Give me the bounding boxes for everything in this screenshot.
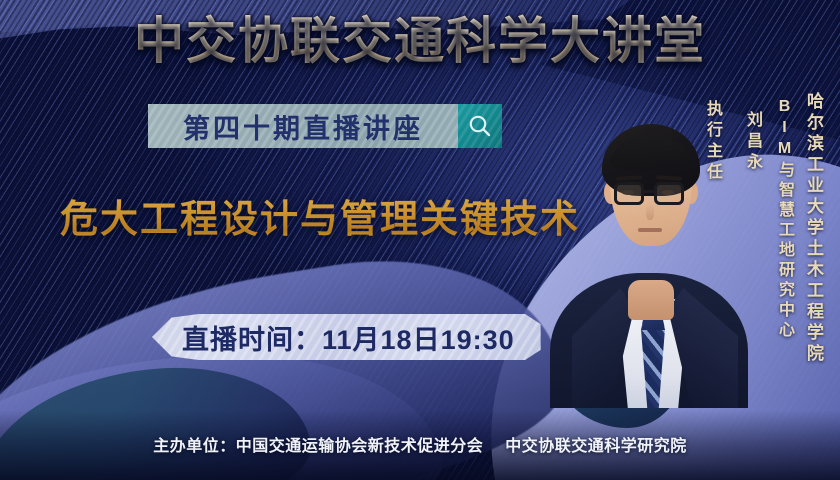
portrait-glasses-left-lens [614, 182, 644, 205]
lecture-title: 危大工程设计与管理关键技术 [60, 188, 580, 243]
portrait-glasses-bridge [644, 190, 654, 193]
speaker-affiliation-center: BIM与智慧工地研究中心 [772, 98, 796, 341]
live-time-text: 直播时间：11月18日19:30 [182, 318, 515, 357]
organizers-prefix: 主办单位： [153, 438, 236, 455]
episode-banner: 第四十期直播讲座 [148, 104, 502, 148]
search-icon [467, 113, 493, 139]
speaker-identity: 刘昌永 执行主任 [700, 100, 764, 184]
portrait-neck [628, 280, 674, 320]
portrait-nose [646, 204, 654, 220]
episode-label-bar: 第四十期直播讲座 [148, 104, 458, 148]
organizer-two: 中交协联交通科学研究院 [505, 438, 687, 455]
promo-poster: 中交协联交通科学大讲堂 第四十期直播讲座 危大工程设计与管理关键技术 直播时间：… [0, 0, 840, 480]
speaker-title: 执行主任 [700, 100, 724, 184]
search-button[interactable] [458, 104, 502, 148]
page-title: 中交协联交通科学大讲堂 [0, 12, 840, 71]
live-time-plaque: 直播时间：11月18日19:30 [152, 314, 541, 360]
portrait-mouth [638, 228, 662, 232]
portrait-glasses-right-lens [654, 182, 684, 205]
speaker-name: 刘昌永 [740, 111, 764, 174]
speaker-affiliation-school: 哈尔滨工业大学土木工程学院 [801, 92, 826, 365]
organizer-one: 中国交通运输协会新技术促进分会 [236, 438, 484, 455]
episode-label: 第四十期直播讲座 [183, 107, 423, 146]
organizers-line: 主办单位：中国交通运输协会新技术促进分会中交协联交通科学研究院 [0, 432, 840, 456]
